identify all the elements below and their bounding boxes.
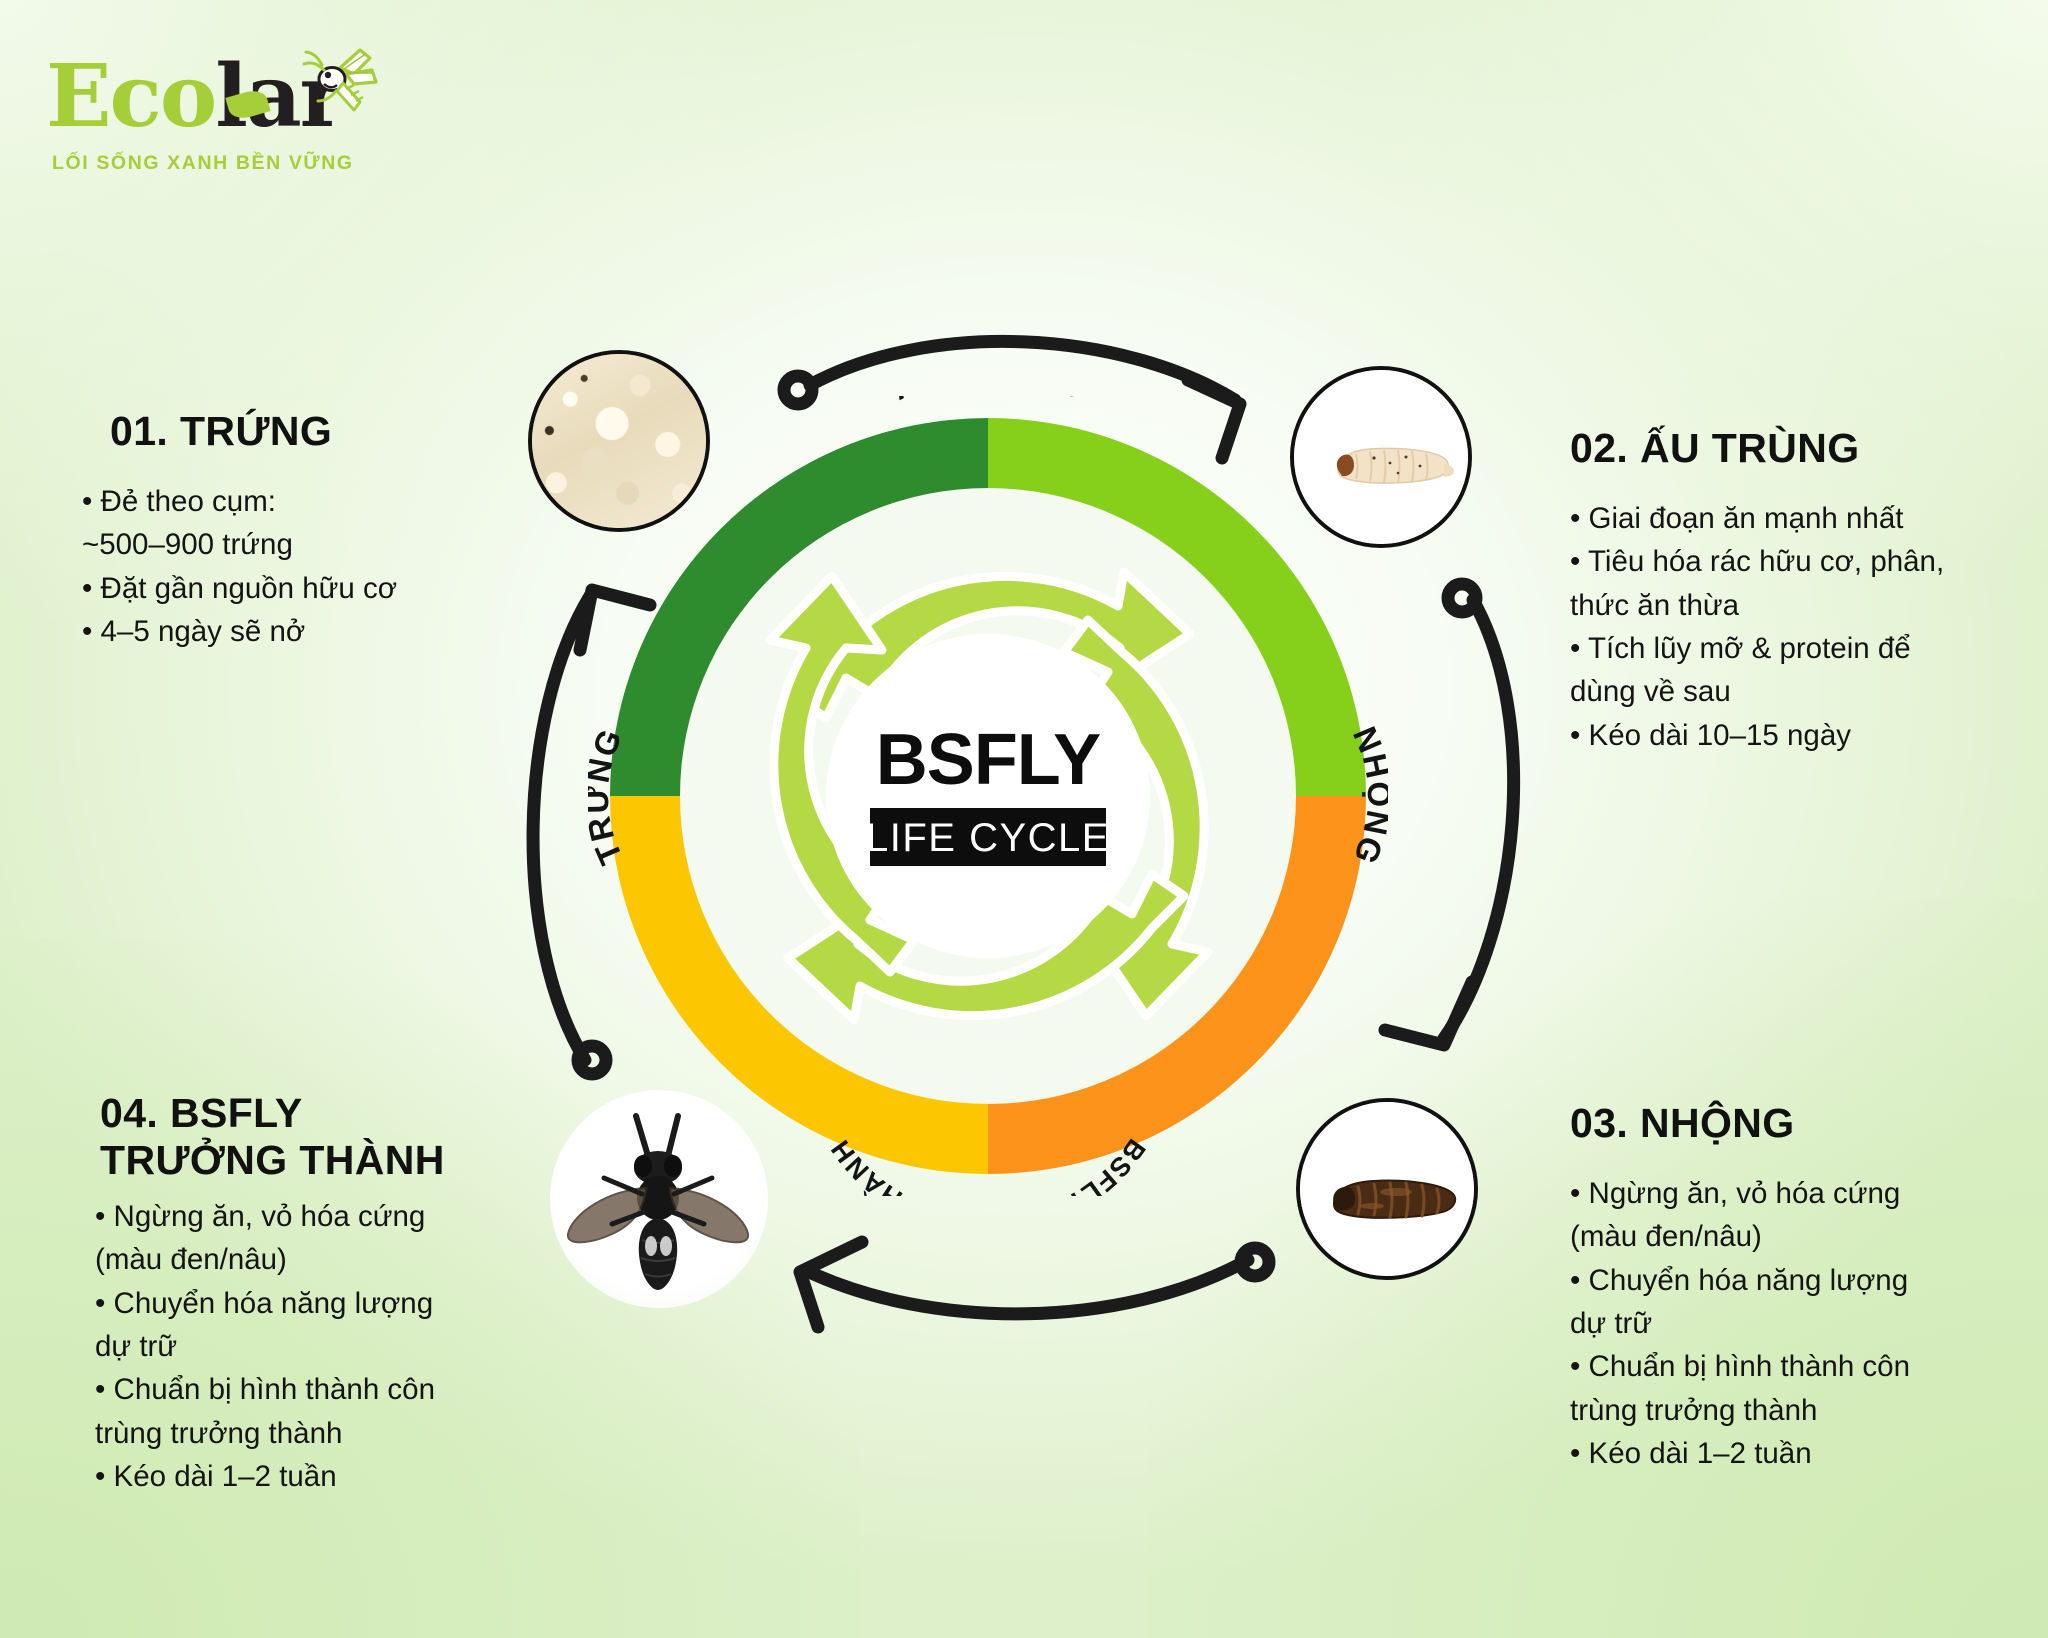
bullet: dự trữ: [95, 1325, 535, 1368]
arrow-tail-dot-right: [1448, 584, 1476, 612]
section-03-title: 03. NHỘNG: [1570, 1100, 1795, 1147]
arrow-tail-dot-bottom: [1241, 1248, 1269, 1276]
bullet: • Đẻ theo cụm:: [82, 480, 512, 523]
bullet: ~500–900 trứng: [82, 523, 512, 566]
arrow-pupa-to-adult: [805, 1260, 1248, 1314]
arrow-adult-to-egg: [533, 596, 590, 1060]
bullet: • Tích lũy mỡ & protein để: [1570, 627, 2040, 670]
brand-logo[interactable]: Ecolar: [42, 30, 382, 170]
egg-mass-photo: [528, 350, 710, 532]
section-04-title: 04. BSFLY TRƯỞNG THÀNH: [100, 1090, 520, 1183]
larva-photo-backdrop: [1294, 370, 1468, 544]
section-01-title: 01. TRỨNG: [110, 408, 332, 455]
black-soldier-fly-illustration: [550, 1090, 768, 1308]
bullet: • Kéo dài 1–2 tuần: [95, 1455, 535, 1498]
bullet: • Chuẩn bị hình thành côn: [1570, 1345, 2030, 1388]
wheel-center-title: BSFLY: [876, 720, 1100, 800]
section-04-bullets: • Ngừng ăn, vỏ hóa cứng (màu đen/nâu) • …: [95, 1195, 535, 1499]
wheel-label-larva: ẤU TRÙNG: [885, 396, 1091, 407]
bullet: (màu đen/nâu): [95, 1238, 535, 1281]
infographic-page: Ecolar: [0, 0, 2048, 1638]
arrow-larva-to-pupa: [1443, 600, 1514, 1040]
pupa-illustration: [1300, 1102, 1478, 1280]
bullet: • Ngừng ăn, vỏ hóa cứng: [1570, 1172, 2030, 1215]
arrow-egg-to-larva: [810, 341, 1235, 400]
wheel-center-subtitle: LIFE CYCLE: [866, 816, 1110, 860]
bullet: • Chuyển hóa năng lượng: [1570, 1259, 2030, 1302]
section-02-bullets: • Giai đoạn ăn mạnh nhất • Tiêu hóa rác …: [1570, 497, 2040, 757]
section-03-bullets: • Ngừng ăn, vỏ hóa cứng (màu đen/nâu) • …: [1570, 1172, 2030, 1476]
bullet: • Chuẩn bị hình thành côn: [95, 1368, 535, 1411]
bullet: • Chuyển hóa năng lượng: [95, 1282, 535, 1325]
pupa-photo-backdrop: [1300, 1102, 1474, 1276]
bullet: (màu đen/nâu): [1570, 1215, 2030, 1258]
bullet: trùng trưởng thành: [95, 1412, 535, 1455]
section-01-bullets: • Đẻ theo cụm: ~500–900 trứng • Đặt gần …: [82, 480, 512, 653]
pupa-photo: [1296, 1098, 1478, 1280]
bullet: • Kéo dài 1–2 tuần: [1570, 1432, 2030, 1475]
bullet: • Ngừng ăn, vỏ hóa cứng: [95, 1195, 535, 1238]
bullet: • 4–5 ngày sẽ nở: [82, 610, 512, 653]
brand-tagline: LỐI SỐNG XANH BỀN VỮNG: [52, 152, 354, 175]
bullet: thức ăn thừa: [1570, 584, 2040, 627]
bullet: • Tiêu hóa rác hữu cơ, phân,: [1570, 540, 2040, 583]
bullet: trùng trưởng thành: [1570, 1389, 2030, 1432]
adult-fly-photo: [550, 1090, 768, 1308]
arrowhead-bottom: [800, 1242, 862, 1327]
bullet: dự trữ: [1570, 1302, 2030, 1345]
section-02-title: 02. ẤU TRÙNG: [1570, 425, 1860, 472]
section-04-title-line1: 04. BSFLY: [100, 1090, 303, 1136]
brand-wordmark-eco: Eco: [46, 46, 215, 147]
life-cycle-wheel: ẤU TRÙNG BSFLY TRƯỞNG THÀNH TRỨNG NHỘNG …: [588, 396, 1388, 1196]
bullet: • Kéo dài 10–15 ngày: [1570, 714, 2040, 757]
bullet: • Đặt gần nguồn hữu cơ: [82, 567, 512, 610]
larva-photo: [1290, 366, 1472, 548]
section-04-title-line2: TRƯỞNG THÀNH: [100, 1137, 445, 1183]
bullet: • Giai đoạn ăn mạnh nhất: [1570, 497, 2040, 540]
bee-icon: [288, 44, 380, 130]
egg-mass-texture: [532, 354, 706, 528]
bullet: dùng về sau: [1570, 670, 2040, 713]
arrowhead-right: [1385, 982, 1472, 1045]
adult-fly-photo-backdrop: [550, 1090, 768, 1308]
larva-illustration: [1294, 370, 1472, 548]
